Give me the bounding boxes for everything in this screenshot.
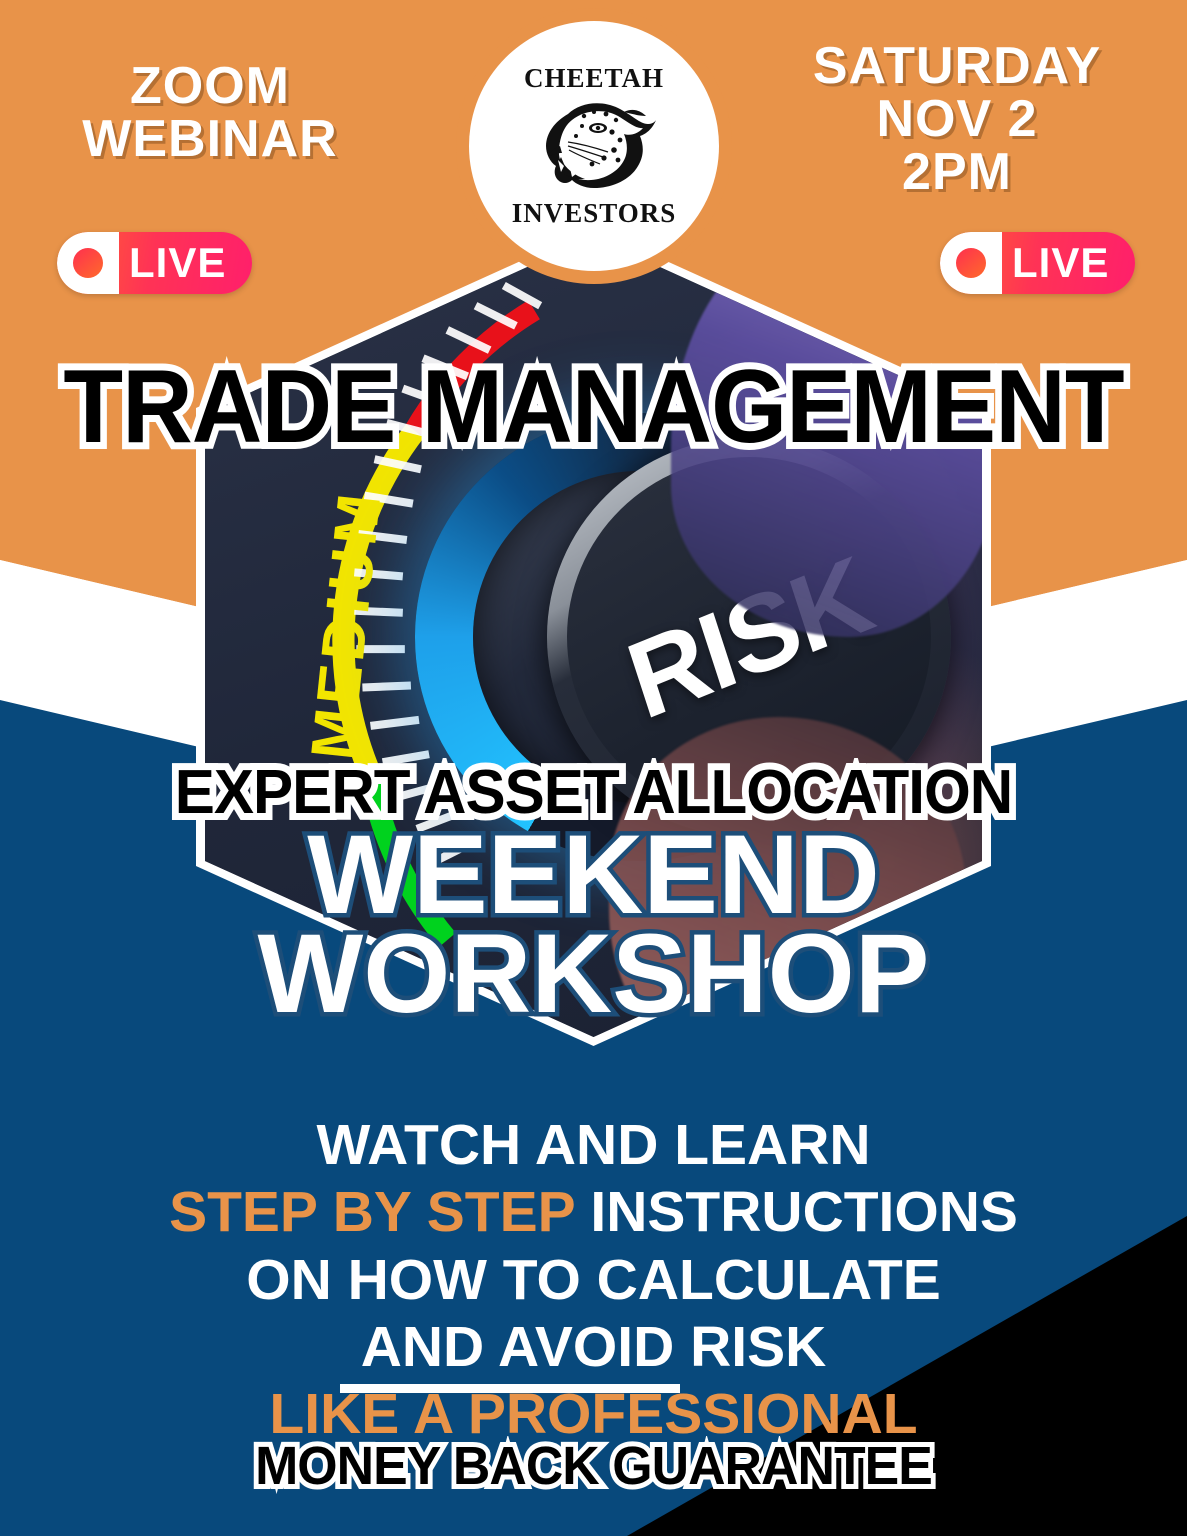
section-divider <box>340 1384 680 1393</box>
event-datetime-block: SATURDAY NOV 2 2PM <box>747 40 1167 199</box>
event-day: SATURDAY <box>747 40 1167 93</box>
cheetah-head-icon <box>528 94 660 198</box>
event-time: 2PM <box>747 146 1167 199</box>
copy-line-2: STEP BY STEP INSTRUCTIONS <box>0 1179 1187 1246</box>
copy-line-4: AND AVOID RISK <box>0 1314 1187 1381</box>
live-badge-left: LIVE <box>57 232 252 294</box>
copy-line-1: WATCH AND LEARN <box>0 1112 1187 1179</box>
body-copy: WATCH AND LEARN STEP BY STEP INSTRUCTION… <box>0 1112 1187 1448</box>
guarantee-badge: MONEY BACK GUARANTEE <box>24 1435 1164 1497</box>
main-headline: TRADE MANAGEMENT <box>36 348 1152 467</box>
live-badge-label-left: LIVE <box>119 239 252 287</box>
live-badge-label-right: LIVE <box>1002 239 1135 287</box>
copy-line-3: ON HOW TO CALCULATE <box>0 1247 1187 1314</box>
event-title-line-2: WORKSHOP <box>0 925 1187 1024</box>
live-dot-wrap <box>57 232 119 294</box>
logo-circle: CHEETAH <box>469 21 719 271</box>
logo-top-word: CHEETAH <box>524 65 664 92</box>
promotional-poster: MEDIUM RISK CHEETAH <box>0 0 1187 1536</box>
webinar-platform-line-1: ZOOM <box>0 60 420 113</box>
brand-logo: CHEETAH <box>456 8 732 284</box>
webinar-platform-block: ZOOM WEBINAR <box>0 60 420 166</box>
live-dot-wrap <box>940 232 1002 294</box>
copy-line-2-rest: INSTRUCTIONS <box>575 1180 1018 1244</box>
copy-line-2-accent: STEP BY STEP <box>169 1180 575 1244</box>
webinar-platform-line-2: WEBINAR <box>0 113 420 166</box>
live-dot-icon <box>73 248 103 278</box>
live-dot-icon <box>956 248 986 278</box>
live-badge-right: LIVE <box>940 232 1135 294</box>
event-date: NOV 2 <box>747 93 1167 146</box>
event-title: WEEKEND WORKSHOP <box>0 826 1187 1023</box>
event-title-line-1: WEEKEND <box>0 826 1187 925</box>
logo-bottom-word: INVESTORS <box>512 200 677 227</box>
